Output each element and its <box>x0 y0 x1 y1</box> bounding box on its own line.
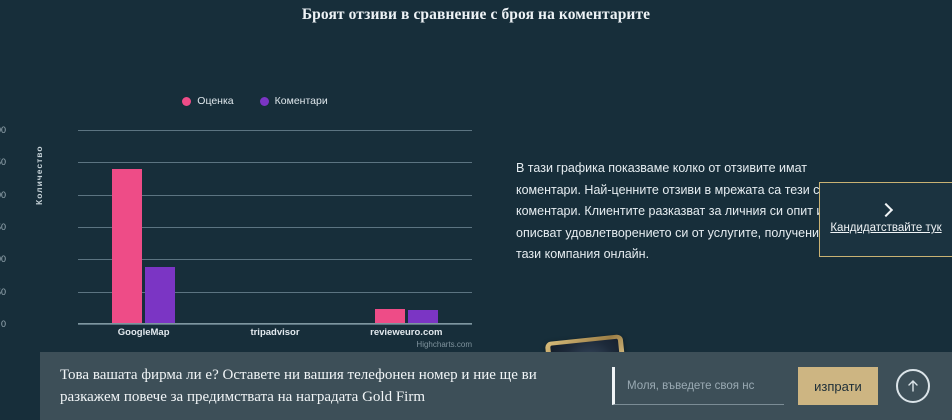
y-axis-tick-label: 300 <box>0 125 6 135</box>
legend-item-ocenka[interactable]: Оценка <box>182 95 233 107</box>
grid-line <box>78 324 472 325</box>
y-axis-tick-label: 50 <box>0 287 6 297</box>
y-axis-title: Количество <box>34 145 44 205</box>
reviews-vs-comments-chart: Оценка Коментари Количество 050100150200… <box>10 95 500 355</box>
apply-here-label: Кандидатствайте тук <box>824 221 947 236</box>
y-axis-tick-label: 200 <box>0 190 6 200</box>
grid-line <box>78 130 472 131</box>
apply-here-card[interactable]: Кандидатствайте тук <box>819 182 952 257</box>
phone-input[interactable] <box>612 367 784 405</box>
y-axis-tick-label: 0 <box>0 319 6 329</box>
legend-swatch-icon <box>260 97 269 106</box>
chart-legend: Оценка Коментари <box>10 95 500 107</box>
y-axis-tick-label: 150 <box>0 222 6 232</box>
page-title: Броят отзиви в сравнение с броя на комен… <box>0 6 952 24</box>
scroll-to-top-button[interactable] <box>896 369 930 403</box>
grid-line <box>78 162 472 163</box>
chart-bar[interactable] <box>112 169 142 323</box>
chart-bar[interactable] <box>375 309 405 323</box>
arrow-up-icon <box>905 378 921 394</box>
submit-button[interactable]: изпрати <box>798 367 878 405</box>
x-axis-labels: GoogleMap tripadvisor revieweuro.com <box>78 327 472 338</box>
x-axis-label: tripadvisor <box>209 327 340 338</box>
legend-label: Коментари <box>275 95 328 107</box>
chevron-right-icon <box>878 203 894 219</box>
x-axis-label: GoogleMap <box>78 327 209 338</box>
legend-label: Оценка <box>197 95 233 107</box>
y-axis-tick-label: 100 <box>0 254 6 264</box>
chart-description: В тази графика показваме колко от отзиви… <box>516 158 861 266</box>
legend-swatch-icon <box>182 97 191 106</box>
chart-bar[interactable] <box>145 267 175 323</box>
chart-plot-area: 050100150200250300 <box>78 130 472 324</box>
legend-item-komentari[interactable]: Коментари <box>260 95 328 107</box>
banner-form: изпрати <box>612 367 878 405</box>
y-axis-tick-label: 250 <box>0 157 6 167</box>
x-axis-label: revieweuro.com <box>341 327 472 338</box>
banner-text: Това вашата фирма ли е? Оставете ни ваши… <box>60 364 590 408</box>
chart-bar[interactable] <box>408 310 438 323</box>
highcharts-credit[interactable]: Highcharts.com <box>10 340 500 349</box>
lead-capture-banner: Това вашата фирма ли е? Оставете ни ваши… <box>40 352 952 420</box>
